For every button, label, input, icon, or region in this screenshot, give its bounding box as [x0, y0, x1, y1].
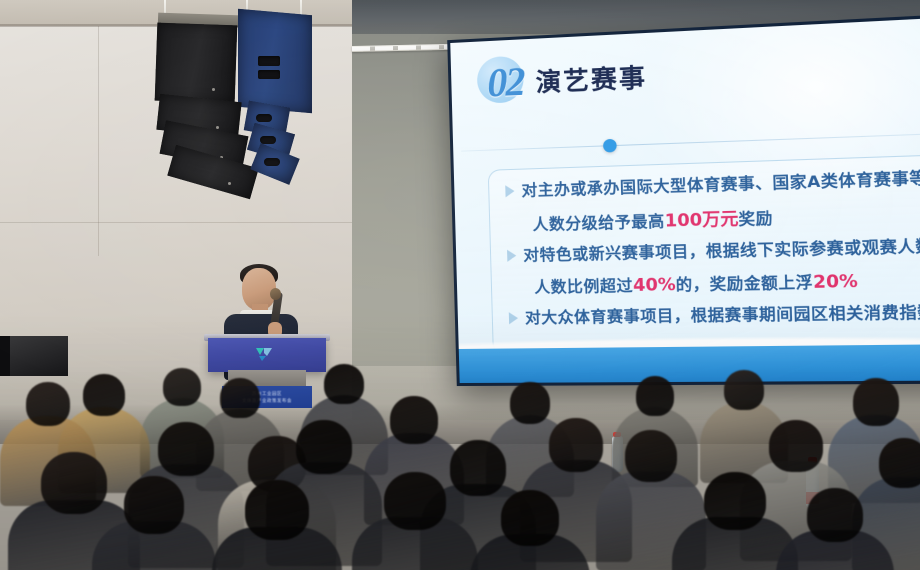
speaker-port [258, 56, 280, 66]
microphone-head-icon [270, 288, 281, 300]
audience-head [501, 490, 559, 546]
audience-head [220, 378, 260, 418]
slide-content-box: 对主办或承办国际大型体育赛事、国家A类体育赛事等有较高 人数分级给予最高100万… [488, 154, 920, 354]
audience-member [352, 472, 478, 570]
section-number: 02 [487, 62, 524, 104]
bullet-item: 对特色或新兴赛事项目，根据线下实际参赛或观赛人数分级给 [491, 237, 920, 267]
bullet-text: 对主办或承办国际大型体育赛事、国家A类体育赛事等有较高 [521, 167, 920, 201]
slide-title: 演艺赛事 [535, 58, 647, 100]
audience-area [0, 360, 920, 570]
audience-member [212, 480, 342, 570]
audience-head [549, 418, 603, 472]
bullet-text: 对大众体育赛事项目，根据赛事期间园区相关消费指数增长幅 [525, 302, 920, 329]
conference-photo-scene: 02 演艺赛事 对主办或承办国际大型体育赛事、国家A类体育赛事等有较高 人数分级… [0, 0, 920, 570]
slide-header: 02 演艺赛事 [487, 56, 648, 104]
audience-head [807, 488, 863, 542]
header-accent-dot [603, 139, 617, 153]
triangle-bullet-icon [505, 185, 514, 197]
audience-head [625, 430, 677, 482]
bullet-group: 对特色或新兴赛事项目，根据线下实际参赛或观赛人数分级给 人数比例超过40%的，奖… [491, 225, 920, 298]
speaker-cabinet [155, 23, 238, 104]
speaker-port [258, 70, 280, 79]
audience-member [470, 490, 590, 570]
audience-head [26, 382, 70, 426]
triangle-bullet-icon [509, 312, 518, 324]
audience-head [636, 376, 674, 416]
audience-head [384, 472, 446, 530]
audience-head [390, 396, 438, 444]
subline-prefix: 人数比例超过 [534, 276, 633, 296]
triangle-bullet-icon [507, 250, 516, 262]
wall-seam-horizontal [0, 222, 352, 223]
audience-head [124, 476, 184, 534]
slide-surface: 02 演艺赛事 对主办或承办国际大型体育赛事、国家A类体育赛事等有较高 人数分级… [450, 17, 920, 383]
audience-head [324, 364, 364, 404]
speaker-logo-dot [228, 182, 231, 185]
speaker-handle [260, 136, 276, 144]
speaker-handle [256, 114, 272, 122]
audience-member [776, 488, 894, 570]
subline-highlight: 100万元 [664, 209, 738, 232]
audience-head [245, 480, 309, 540]
bullet-text: 对特色或新兴赛事项目，根据线下实际参赛或观赛人数分级给 [523, 236, 920, 266]
subline-highlight-2: 20% [813, 271, 858, 293]
bullet-group: 对主办或承办国际大型体育赛事、国家A类体育赛事等有较高 人数分级给予最高100万… [489, 155, 920, 236]
subline-middle: 的，奖励金额上浮 [675, 273, 813, 294]
line-array-speaker-rig [150, 0, 340, 215]
audience-head [853, 378, 899, 426]
audience-head [769, 420, 823, 472]
audience-head [704, 472, 766, 530]
subline-prefix: 人数分级给予最高 [532, 213, 665, 235]
speaker-handle [264, 158, 280, 166]
audience-head [724, 370, 764, 410]
projection-screen: 02 演艺赛事 对主办或承办国际大型体育赛事、国家A类体育赛事等有较高 人数分级… [447, 14, 920, 386]
subline-highlight: 40% [633, 274, 676, 295]
speaker-logo-dot [212, 88, 215, 91]
audience-member [92, 476, 216, 570]
audience-head [879, 438, 920, 488]
audience-head [158, 422, 214, 476]
subline-suffix: 奖励 [738, 210, 773, 230]
speaker-logo-dot [216, 126, 219, 129]
audience-head [296, 420, 352, 474]
bullet-item: 对主办或承办国际大型体育赛事、国家A类体育赛事等有较高 [489, 168, 920, 202]
bullet-item: 对大众体育赛事项目，根据赛事期间园区相关消费指数增长幅 [493, 302, 920, 328]
